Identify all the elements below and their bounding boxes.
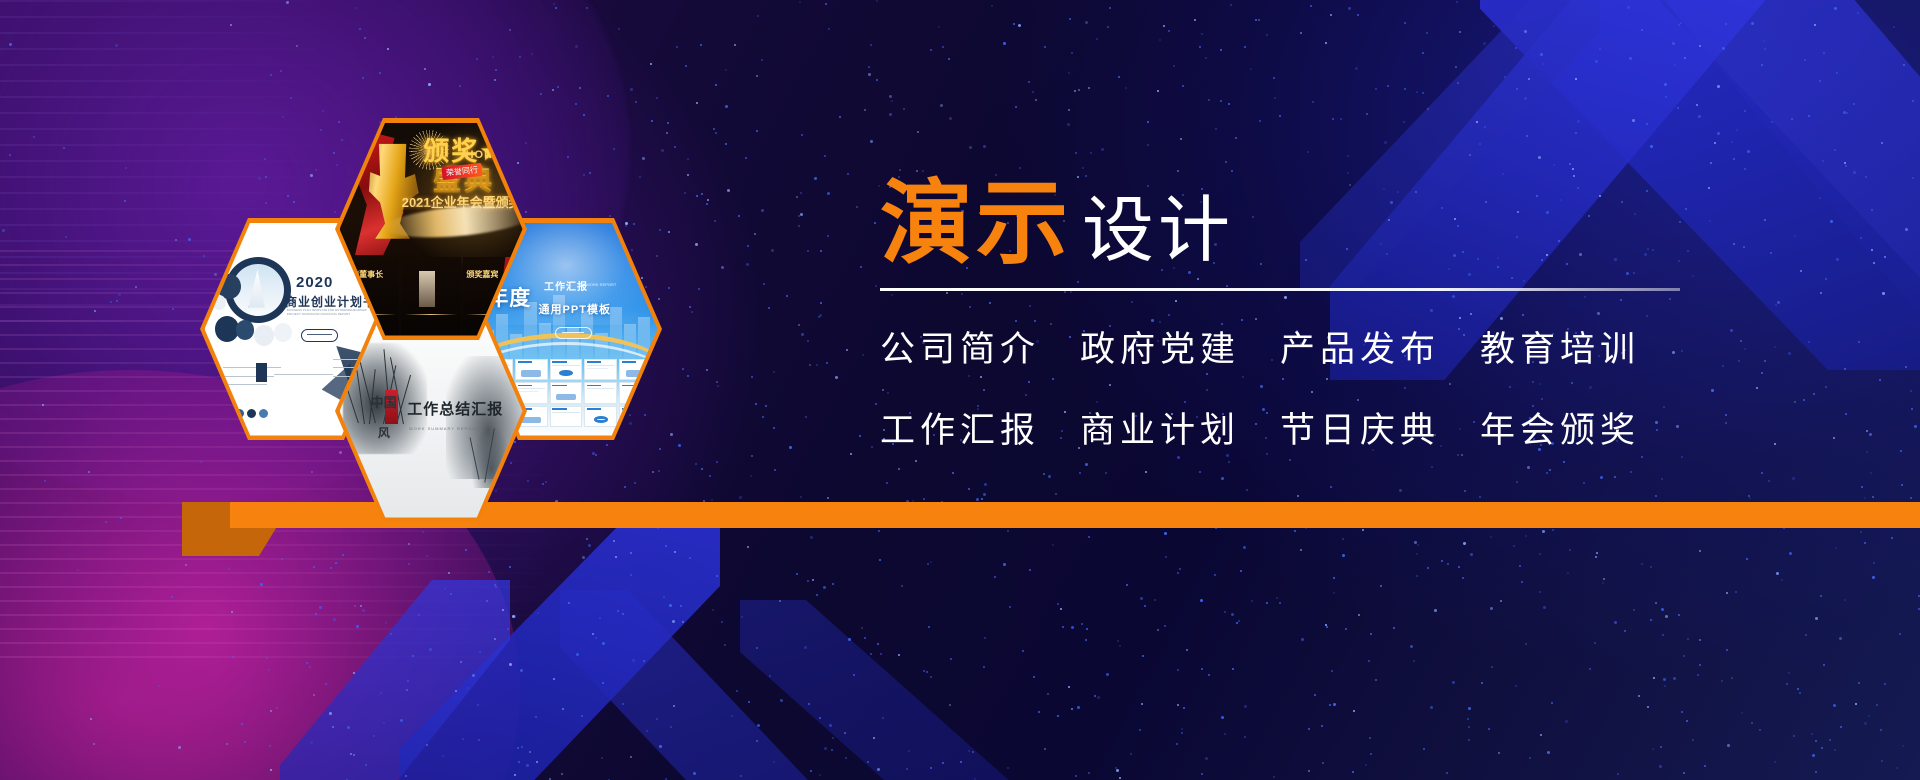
deco-dot (254, 325, 274, 346)
thumbnail-subtitle: WORK SUMMARY REPORT (409, 426, 480, 431)
tag-product-launch[interactable]: 产品发布 (1280, 321, 1440, 372)
title-row: 演示 设计 (880, 178, 1820, 270)
banner-stage: 2020 商业创业计划书 BUSINESS PLAN TEMPLATE FOR … (0, 0, 1920, 780)
deco-dot (236, 320, 254, 339)
avatar-row (223, 409, 268, 418)
content-line (223, 384, 267, 385)
slide-card (515, 359, 548, 380)
thumbnail-pill (555, 327, 592, 339)
content-line (274, 374, 333, 375)
slide-card (584, 406, 617, 427)
page-title-primary: 演示 (880, 178, 1072, 270)
deco-dot (274, 323, 292, 342)
slide-label: 颁奖嘉宾 (466, 269, 498, 280)
thumbnail-title-top: 工作汇报 (544, 278, 588, 293)
thumbnail-brand-2: 风 (378, 424, 390, 441)
page-title-secondary: 设计 (1082, 194, 1234, 266)
headline-block: 演示 设计 公司简介 政府党建 产品发布 教育培训 工作汇报 商业计划 节日庆典… (880, 178, 1820, 453)
slide-card (619, 406, 652, 427)
thumbnail-title-main: 通用PPT模板 (539, 301, 611, 317)
deco-dot (212, 295, 227, 310)
content-line (223, 367, 282, 368)
slide-card (550, 359, 583, 380)
thumbnail-title: 工作总结汇报 (407, 398, 503, 419)
tag-company-profile[interactable]: 公司简介 (880, 321, 1040, 372)
tag-festival[interactable]: 节日庆典 (1280, 402, 1440, 453)
orange-bar-tail-cap (230, 502, 300, 528)
slide-card (401, 257, 461, 336)
slide-card (550, 406, 583, 427)
tag-business-plan[interactable]: 商业计划 (1080, 402, 1240, 453)
template-thumbnail-cluster: 2020 商业创业计划书 BUSINESS PLAN TEMPLATE FOR … (180, 110, 660, 480)
divider (880, 288, 1680, 291)
award-hero-area: 颁奖★ 盛典 HONOR 荣誉同行 2021企业年会暨颁奖典礼 ANNUAL M… (340, 123, 523, 255)
slide-card (550, 382, 583, 403)
tag-row-1: 公司简介 政府党建 产品发布 教育培训 (880, 321, 1820, 372)
slide-card (584, 359, 617, 380)
tag-work-report[interactable]: 工作汇报 (880, 402, 1040, 453)
tag-row-2: 工作汇报 商业计划 节日庆典 年会颁奖 (880, 402, 1820, 453)
tag-government-party[interactable]: 政府党建 (1080, 321, 1240, 372)
slide-card (619, 359, 652, 380)
thumbnail-year: 2020 (296, 274, 333, 291)
award-hono-label: HONOR (466, 149, 512, 161)
thumbnail-brand-1: 中国 (371, 392, 397, 411)
slide-card (584, 382, 617, 403)
thumbnail-title-top-en: WORK REPORT (586, 282, 616, 287)
thumbnail-subtitle: BUSINESS PLAN TEMPLATE FOR ENTREPRENEURS… (287, 308, 380, 317)
content-block (256, 363, 267, 382)
thumbnail-pill (301, 329, 338, 342)
slide-card (619, 382, 652, 403)
tag-education-training[interactable]: 教育培训 (1480, 321, 1640, 372)
tag-annual-awards[interactable]: 年会颁奖 (1480, 402, 1640, 453)
